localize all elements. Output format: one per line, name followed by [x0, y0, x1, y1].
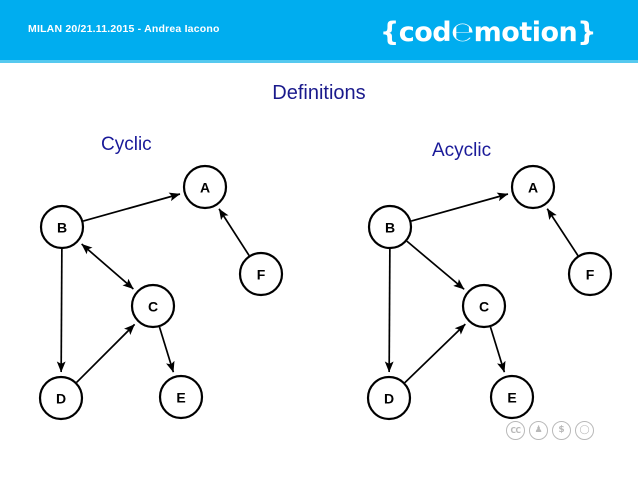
graph-label-cyclic: Cyclic [101, 134, 152, 156]
graph-node-cyclic-B: B [41, 206, 83, 248]
node-label-acyclic-C: C [479, 299, 489, 315]
graph-node-acyclic-F: F [569, 253, 611, 295]
node-label-cyclic-A: A [200, 180, 210, 196]
node-label-acyclic-D: D [384, 391, 394, 407]
node-circle-acyclic-C [463, 285, 505, 327]
node-label-cyclic-E: E [176, 390, 185, 406]
node-circle-cyclic-A [184, 166, 226, 208]
graph-edge-acyclic-B-C [407, 241, 464, 289]
graph-edge-acyclic-B-D [389, 249, 390, 372]
cc-badge-cc: CC [506, 421, 525, 440]
node-label-acyclic-A: A [528, 180, 538, 196]
graph-edge-cyclic-B-A [83, 194, 180, 221]
graph-node-cyclic-A: A [184, 166, 226, 208]
graph-edge-acyclic-F-A [547, 209, 578, 256]
header-underline [0, 60, 638, 63]
node-circle-acyclic-D [368, 377, 410, 419]
slide-canvas: MILAN 20/21.11.2015 - Andrea Iacono {cod… [0, 0, 638, 479]
graph-edge-cyclic-F-A [219, 209, 249, 256]
page-title: Definitions [0, 82, 638, 105]
node-label-acyclic-B: B [385, 220, 395, 236]
graph-node-acyclic-A: A [512, 166, 554, 208]
cc-badge-sa-icon: ◯ [575, 421, 594, 440]
graph-node-acyclic-D: D [368, 377, 410, 419]
node-circle-acyclic-B [369, 206, 411, 248]
node-circle-acyclic-F [569, 253, 611, 295]
graph-node-cyclic-C: C [132, 285, 174, 327]
graph-node-cyclic-F: F [240, 253, 282, 295]
graph-label-acyclic: Acyclic [432, 140, 491, 162]
graph-edge-acyclic-B-A [411, 194, 508, 221]
cc-badge-nc-icon: $ [552, 421, 571, 440]
graph-node-cyclic-E: E [160, 376, 202, 418]
node-circle-cyclic-E [160, 376, 202, 418]
graph-diagrams: ABCDEFABCDEF [0, 0, 638, 479]
header-event-info: MILAN 20/21.11.2015 - Andrea Iacono [28, 23, 220, 35]
node-circle-cyclic-D [40, 377, 82, 419]
node-circle-cyclic-F [240, 253, 282, 295]
node-label-cyclic-F: F [257, 267, 266, 283]
node-label-acyclic-E: E [507, 390, 516, 406]
graph-node-acyclic-E: E [491, 376, 533, 418]
graph-edge-cyclic-B-C [82, 244, 134, 289]
graph-edge-cyclic-C-E [159, 327, 173, 372]
cc-badge-by-icon: ♟ [529, 421, 548, 440]
node-label-cyclic-D: D [56, 391, 66, 407]
nodes-layer: ABCDEFABCDEF [40, 166, 611, 419]
creative-commons-badges: CC ♟ $ ◯ [506, 421, 594, 440]
node-circle-acyclic-E [491, 376, 533, 418]
codemotion-logo: {cod℮motion} [380, 17, 596, 48]
graph-node-cyclic-D: D [40, 377, 82, 419]
node-circle-acyclic-A [512, 166, 554, 208]
node-circle-cyclic-B [41, 206, 83, 248]
graph-edge-acyclic-C-E [490, 327, 504, 372]
graph-node-acyclic-C: C [463, 285, 505, 327]
node-label-cyclic-B: B [57, 220, 67, 236]
graph-edge-cyclic-D-C [77, 324, 135, 382]
graph-node-acyclic-B: B [369, 206, 411, 248]
edges-layer [61, 194, 578, 383]
node-label-acyclic-F: F [586, 267, 595, 283]
node-circle-cyclic-C [132, 285, 174, 327]
node-label-cyclic-C: C [148, 299, 158, 315]
graph-edge-acyclic-D-C [405, 324, 466, 383]
graph-edge-cyclic-B-D [61, 249, 62, 372]
